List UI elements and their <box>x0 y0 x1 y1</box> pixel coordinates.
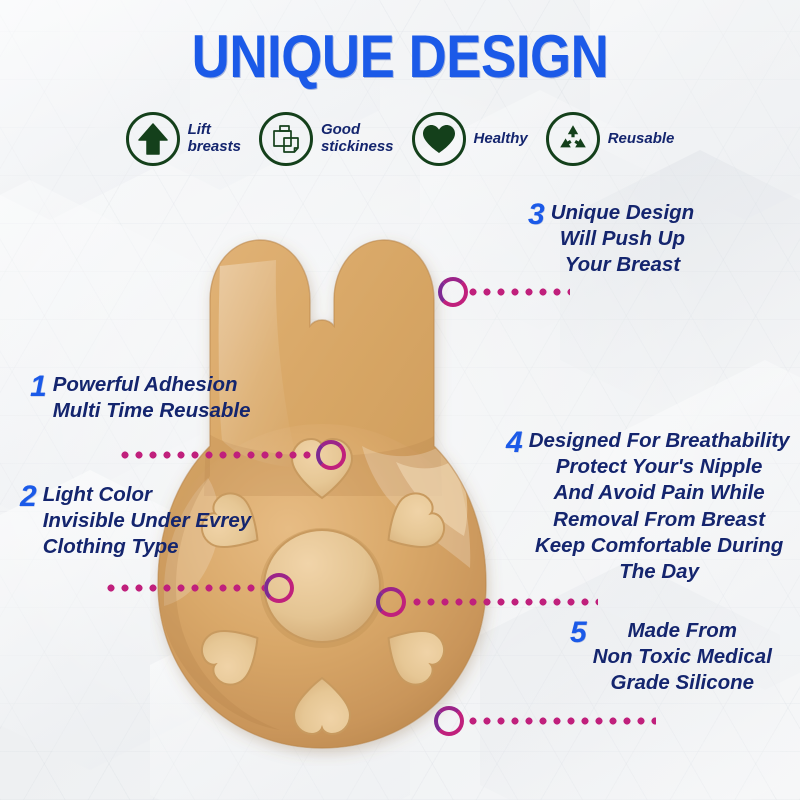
leader-dots <box>466 717 656 725</box>
leader-line-5 <box>466 716 656 726</box>
callout-number: 3 <box>528 200 545 230</box>
leader-line-2 <box>104 583 264 593</box>
page-title: UNIQUE DESIGN <box>48 22 752 91</box>
feature-reusable: Reusable <box>546 112 675 166</box>
feature-label: Healthy <box>474 131 528 148</box>
leader-line-1 <box>118 450 318 460</box>
callout-number: 4 <box>506 428 523 458</box>
callout-marker-1[interactable] <box>316 440 346 470</box>
callout-5: 5 Made From Non Toxic Medical Grade Sili… <box>570 618 800 697</box>
callout-3: 3 Unique Design Will Push Up Your Breast <box>528 200 788 279</box>
feature-icon-row: Lift breasts Good stickiness <box>0 112 800 166</box>
leader-dots <box>118 451 318 459</box>
leader-line-3 <box>466 287 570 297</box>
leader-dots <box>466 288 570 296</box>
feature-label: Good stickiness <box>321 122 394 156</box>
heart-icon <box>412 112 466 166</box>
callout-text: Unique Design Will Push Up Your Breast <box>551 200 695 279</box>
callout-2: 2 Light Color Invisible Under Evrey Clot… <box>20 482 310 561</box>
callout-text: Powerful Adhesion Multi Time Reusable <box>53 372 251 424</box>
feature-label: Lift breasts <box>188 122 241 156</box>
callout-text: Made From Non Toxic Medical Grade Silico… <box>593 618 772 697</box>
callout-marker-5[interactable] <box>434 706 464 736</box>
callout-text: Light Color Invisible Under Evrey Clothi… <box>43 482 252 561</box>
callout-text: Designed For Breathability Protect Your'… <box>529 428 790 585</box>
leader-line-4 <box>410 597 598 607</box>
callout-number: 1 <box>30 372 47 402</box>
callout-marker-4[interactable] <box>376 587 406 617</box>
infographic-canvas: UNIQUE DESIGN Lift breasts <box>0 0 800 800</box>
feature-lift-breasts: Lift breasts <box>126 112 241 166</box>
recycle-icon <box>546 112 600 166</box>
feature-label: Reusable <box>608 131 675 148</box>
callout-number: 2 <box>20 482 37 512</box>
up-arrow-icon <box>126 112 180 166</box>
callout-number: 5 <box>570 618 587 648</box>
callout-4: 4 Designed For Breathability Protect You… <box>506 428 798 585</box>
callout-marker-3[interactable] <box>438 277 468 307</box>
leader-dots <box>410 598 598 606</box>
sticky-note-icon <box>259 112 313 166</box>
callout-marker-2[interactable] <box>264 573 294 603</box>
feature-good-stickiness: Good stickiness <box>259 112 394 166</box>
feature-healthy: Healthy <box>412 112 528 166</box>
callout-1: 1 Powerful Adhesion Multi Time Reusable <box>30 372 310 424</box>
leader-dots <box>104 584 264 592</box>
